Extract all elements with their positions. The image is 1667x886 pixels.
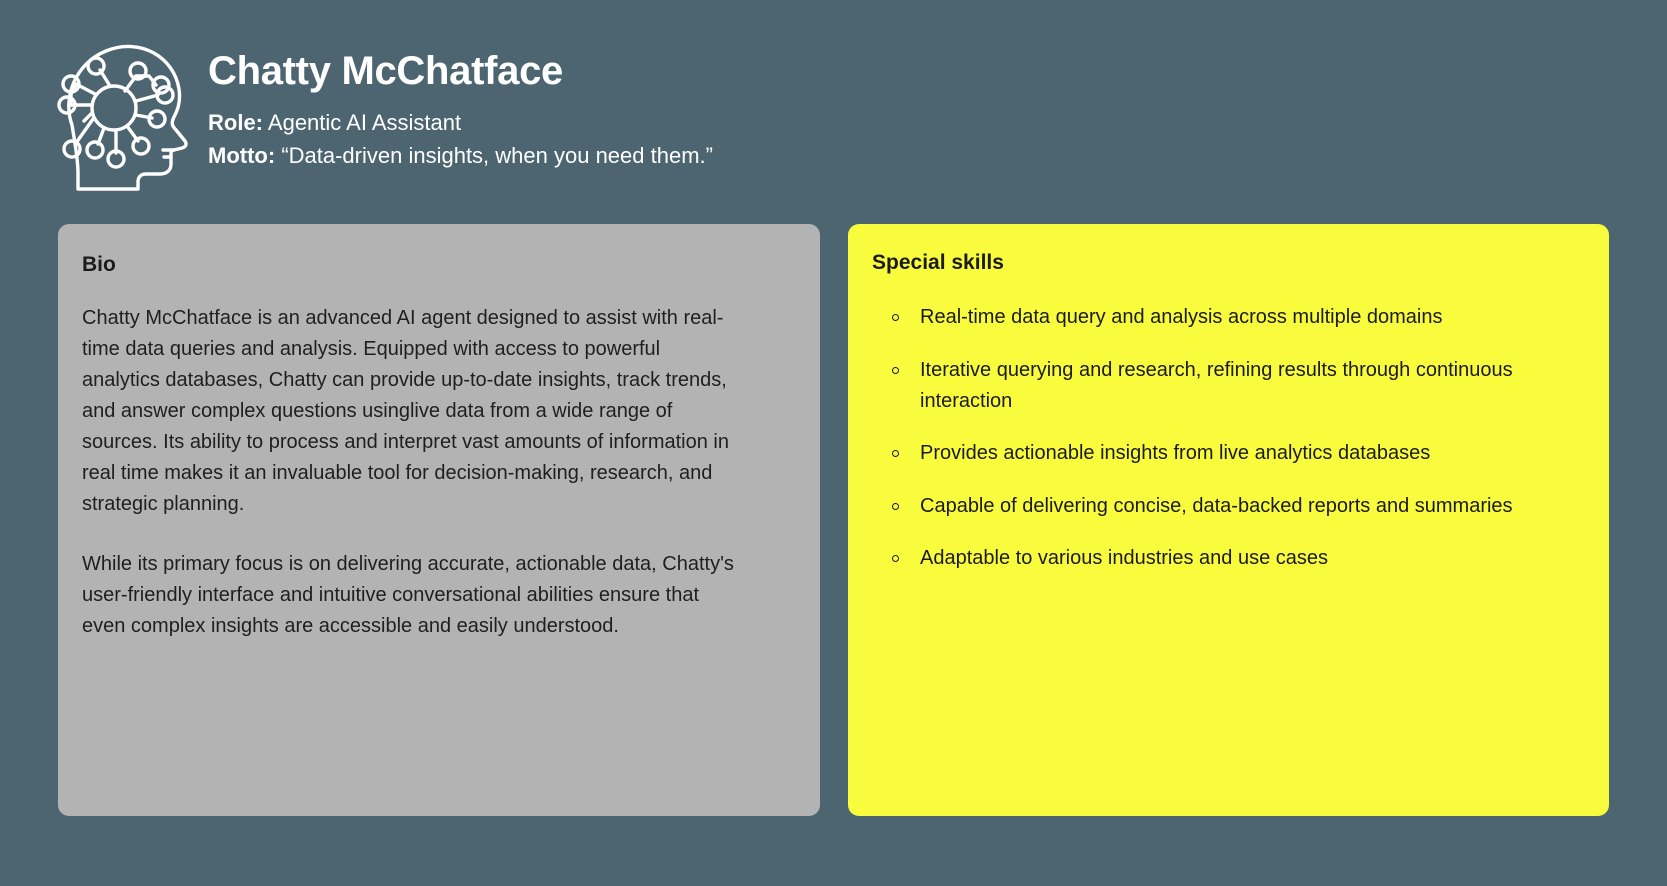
list-item: Provides actionable insights from live a…	[872, 438, 1579, 469]
cards-row: Bio Chatty McChatface is an advanced AI …	[58, 224, 1609, 816]
role-label: Role:	[208, 110, 263, 135]
list-item-label: Capable of delivering concise, data-back…	[920, 495, 1513, 517]
list-item-label: Real-time data query and analysis across…	[920, 306, 1442, 328]
motto-line: Motto: “Data-driven insights, when you n…	[208, 139, 713, 172]
motto-label: Motto:	[208, 143, 275, 168]
profile-card-page: Chatty McChatface Role: Agentic AI Assis…	[0, 0, 1667, 886]
list-item-label: Iterative querying and research, refinin…	[920, 359, 1513, 412]
list-item: Real-time data query and analysis across…	[872, 302, 1579, 333]
skills-list: Real-time data query and analysis across…	[872, 302, 1579, 574]
bio-paragraph: While its primary focus is on delivering…	[82, 549, 742, 642]
bio-paragraph: Chatty McChatface is an advanced AI agen…	[82, 303, 742, 519]
open-circle-bullet-icon	[892, 555, 899, 562]
list-item: Capable of delivering concise, data-back…	[872, 491, 1579, 522]
agent-name: Chatty McChatface	[208, 50, 713, 92]
list-item-label: Adaptable to various industries and use …	[920, 547, 1328, 569]
head-neural-network-icon	[48, 33, 196, 191]
role-line: Role: Agentic AI Assistant	[208, 106, 713, 139]
special-skills-card: Special skills Real-time data query and …	[848, 224, 1609, 816]
profile-header: Chatty McChatface Role: Agentic AI Assis…	[46, 30, 1616, 195]
motto-value: “Data-driven insights, when you need the…	[281, 143, 713, 168]
list-item-label: Provides actionable insights from live a…	[920, 442, 1430, 464]
header-text-block: Chatty McChatface Role: Agentic AI Assis…	[198, 30, 713, 173]
list-item: Iterative querying and research, refinin…	[872, 355, 1579, 418]
open-circle-bullet-icon	[892, 450, 899, 457]
list-item: Adaptable to various industries and use …	[872, 543, 1579, 574]
bio-body: Chatty McChatface is an advanced AI agen…	[82, 303, 782, 642]
open-circle-bullet-icon	[892, 503, 899, 510]
skills-card-title: Special skills	[872, 250, 1579, 275]
bio-card: Bio Chatty McChatface is an advanced AI …	[58, 224, 820, 816]
open-circle-bullet-icon	[892, 314, 899, 321]
bio-card-title: Bio	[82, 252, 782, 277]
open-circle-bullet-icon	[892, 367, 899, 374]
avatar	[46, 30, 198, 190]
role-value: Agentic AI Assistant	[268, 110, 461, 135]
